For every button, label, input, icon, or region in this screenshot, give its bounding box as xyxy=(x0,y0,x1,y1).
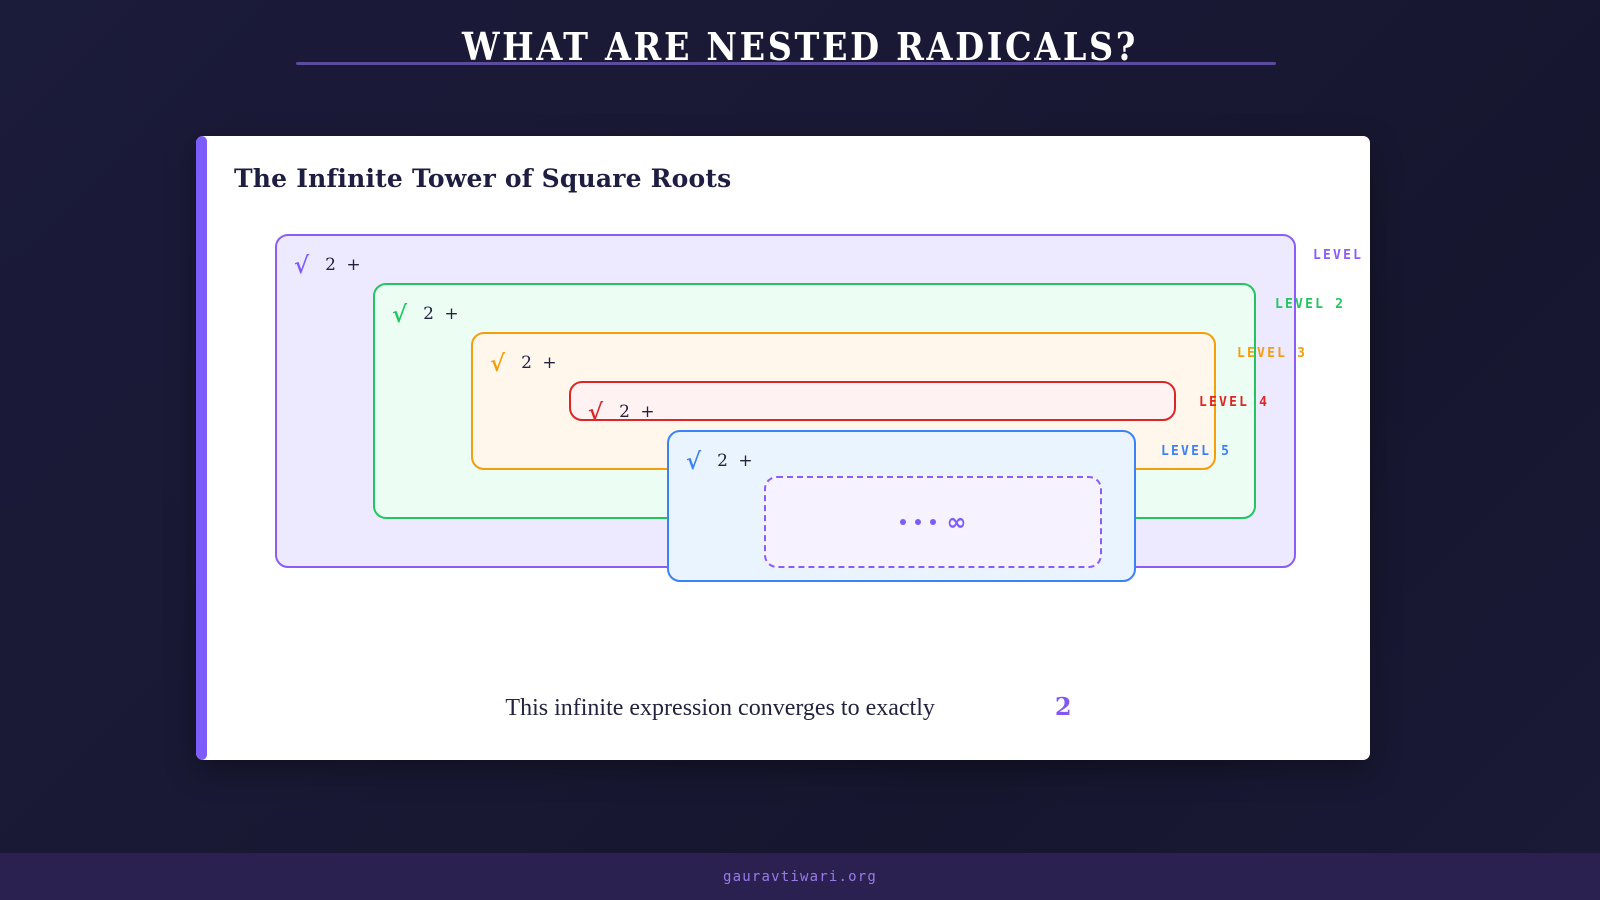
level-tag-3: LEVEL 3 xyxy=(1237,347,1307,360)
ellipsis-dot-1 xyxy=(900,519,906,525)
infinity-placeholder-box: ∞ xyxy=(764,476,1102,568)
footer-site-label: gauravtiwari.org xyxy=(723,869,877,885)
level-expression-3: √ 2 + xyxy=(490,352,559,375)
radical-icon-1: √ xyxy=(294,254,309,277)
radical-icon-2: √ xyxy=(392,303,407,326)
infinity-content: ∞ xyxy=(900,510,967,534)
caption-row: This infinite expression converges to ex… xyxy=(207,692,1370,722)
radical-icon-5: √ xyxy=(686,450,701,473)
level-tag-2: LEVEL 2 xyxy=(1275,298,1345,311)
level-tag-5: LEVEL 5 xyxy=(1161,445,1231,458)
caption-text: This infinite expression converges to ex… xyxy=(505,695,934,722)
card-heading: The Infinite Tower of Square Roots xyxy=(234,164,731,193)
ellipsis-dot-2 xyxy=(915,519,921,525)
level-expression-4: √ 2 + xyxy=(588,401,657,424)
footer-bar: gauravtiwari.org xyxy=(0,853,1600,900)
ellipsis-dot-3 xyxy=(930,519,936,525)
level-tag-4: LEVEL 4 xyxy=(1199,396,1269,409)
infinity-icon: ∞ xyxy=(947,510,967,534)
radical-icon-4: √ xyxy=(588,401,603,424)
caption-value: 2 xyxy=(1055,692,1072,721)
level-operand-5: 2 + xyxy=(717,453,755,470)
card-accent-bar xyxy=(196,136,207,760)
level-box-4 xyxy=(569,381,1176,421)
radical-icon-3: √ xyxy=(490,352,505,375)
level-tag-1: LEVEL 1 xyxy=(1313,249,1370,262)
content-card: The Infinite Tower of Square Roots √ 2 +… xyxy=(196,136,1370,760)
level-expression-2: √ 2 + xyxy=(392,303,461,326)
title-divider xyxy=(296,62,1276,65)
level-operand-2: 2 + xyxy=(423,306,461,323)
level-operand-1: 2 + xyxy=(325,257,363,274)
level-expression-5: √ 2 + xyxy=(686,450,755,473)
level-operand-4: 2 + xyxy=(619,404,657,421)
level-expression-1: √ 2 + xyxy=(294,254,363,277)
page-background: WHAT ARE NESTED RADICALS? The Infinite T… xyxy=(0,0,1600,900)
level-operand-3: 2 + xyxy=(521,355,559,372)
